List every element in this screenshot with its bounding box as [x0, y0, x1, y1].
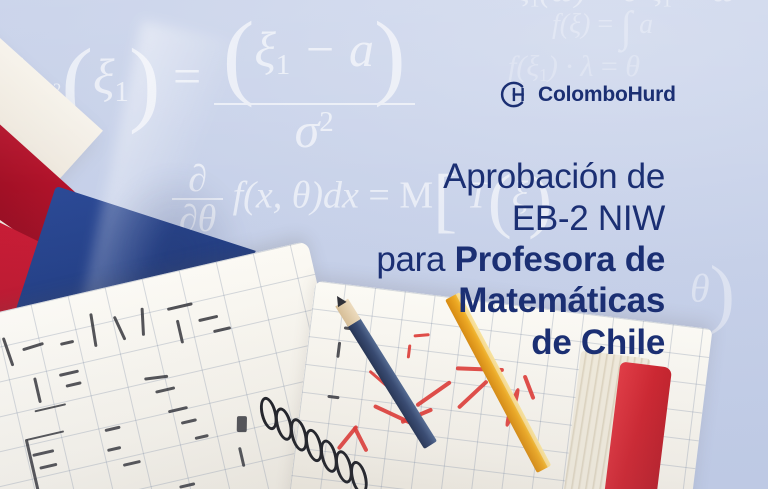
banner-image: ∫fa,σ2(ξ1) = (ξ1 − a)σ2 ξ1(ω) = σ ξ1 + ω…: [0, 0, 768, 489]
headline-line-2: EB-2 NIW: [245, 198, 665, 239]
headline-line-3: para Profesora de: [245, 239, 665, 280]
headline-line-1: Aprobación de: [245, 156, 665, 197]
headline-line-3-bold: Profesora de: [455, 240, 665, 279]
page-title: Aprobación de EB-2 NIW para Profesora de…: [245, 156, 665, 362]
headline-line-5: de Chile: [245, 322, 665, 363]
brand-name: ColomboHurd: [538, 84, 676, 105]
headline-line-3-normal: para: [376, 240, 454, 279]
brand-logo[interactable]: ColomboHurd: [498, 79, 676, 110]
headline-line-4: Matemáticas: [245, 280, 665, 321]
colombohurd-c-h-monogram-icon: [498, 79, 529, 110]
